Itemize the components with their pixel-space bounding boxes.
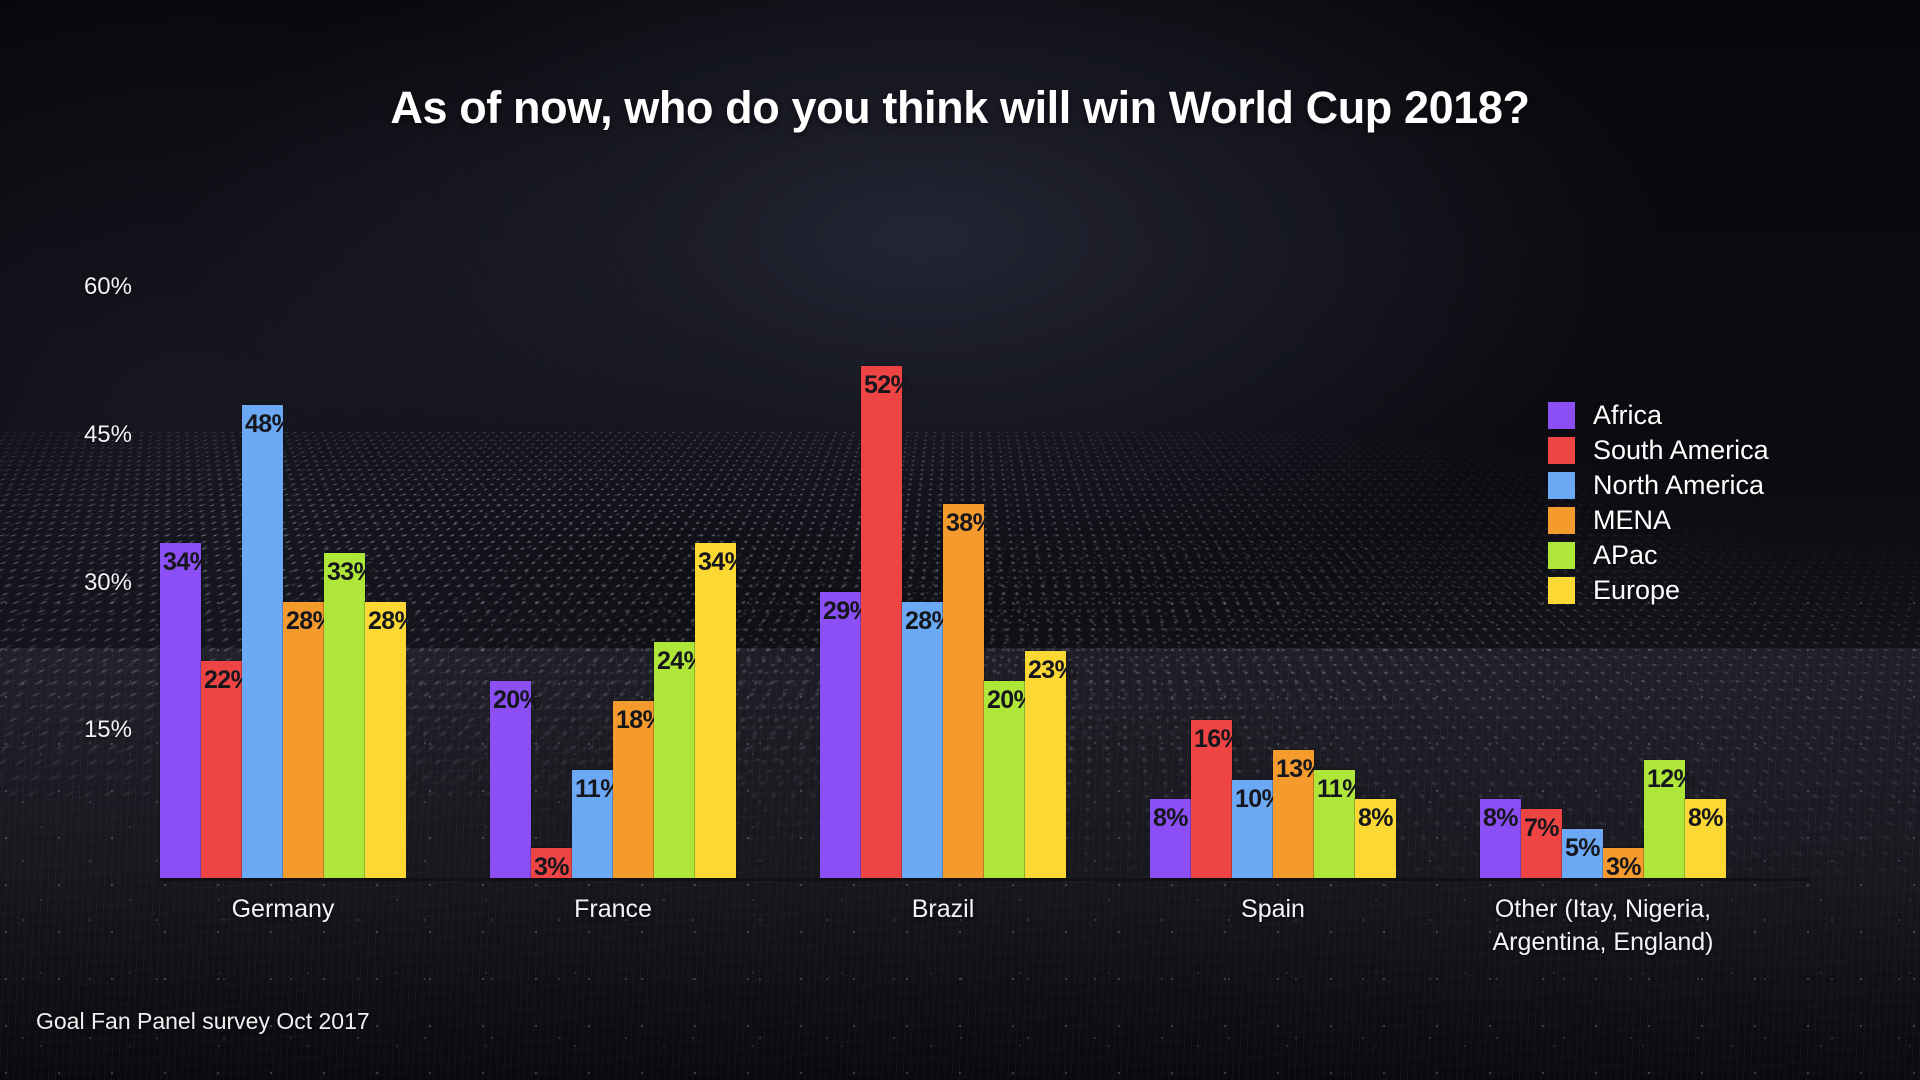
bar[interactable]: 8% xyxy=(1150,799,1191,878)
bar[interactable]: 12% xyxy=(1644,760,1685,878)
bar-value-label: 23% xyxy=(1028,656,1076,685)
bar-value-label: 16% xyxy=(1194,725,1242,754)
x-axis-category-label: Spain xyxy=(1241,893,1305,926)
bar[interactable]: 16% xyxy=(1191,720,1232,878)
bar[interactable]: 38% xyxy=(943,504,984,878)
bar-group: 20%3%11%18%24%34%France xyxy=(490,0,736,878)
bar-group: 8%16%10%13%11%8%Spain xyxy=(1150,0,1396,878)
bar-value-label: 7% xyxy=(1524,814,1559,843)
bar-value-label: 8% xyxy=(1688,804,1723,833)
legend-item-label: APac xyxy=(1593,540,1658,571)
source-note: Goal Fan Panel survey Oct 2017 xyxy=(36,1008,370,1035)
legend-color-swatch xyxy=(1548,577,1575,604)
x-axis-category-label: France xyxy=(574,893,652,926)
bar-value-label: 34% xyxy=(163,548,211,577)
bar[interactable]: 3% xyxy=(531,848,572,878)
legend-item-label: Africa xyxy=(1593,400,1662,431)
bar[interactable]: 13% xyxy=(1273,750,1314,878)
bar[interactable]: 8% xyxy=(1355,799,1396,878)
bar[interactable]: 20% xyxy=(984,681,1025,878)
bar[interactable]: 5% xyxy=(1562,829,1603,878)
bar-value-label: 20% xyxy=(493,686,541,715)
legend-color-swatch xyxy=(1548,472,1575,499)
legend-color-swatch xyxy=(1548,507,1575,534)
legend: AfricaSouth AmericaNorth AmericaMENAAPac… xyxy=(1548,398,1769,608)
bar[interactable]: 29% xyxy=(820,592,861,878)
y-axis-tick-label: 30% xyxy=(0,569,132,597)
legend-item-label: North America xyxy=(1593,470,1764,501)
bar[interactable]: 3% xyxy=(1603,848,1644,878)
legend-color-swatch xyxy=(1548,402,1575,429)
legend-item-label: South America xyxy=(1593,435,1769,466)
legend-item[interactable]: South America xyxy=(1548,433,1769,468)
legend-item[interactable]: Europe xyxy=(1548,573,1769,608)
bar-value-label: 38% xyxy=(946,509,994,538)
bar[interactable]: 8% xyxy=(1480,799,1521,878)
bar-group: 29%52%28%38%20%23%Brazil xyxy=(820,0,1066,878)
bar-group: 34%22%48%28%33%28%Germany xyxy=(160,0,406,878)
bar-value-label: 52% xyxy=(864,371,912,400)
bar-value-label: 8% xyxy=(1483,804,1518,833)
bar-group-bars: 8%16%10%13%11%8% xyxy=(1150,0,1396,878)
bar[interactable]: 28% xyxy=(902,602,943,878)
bar-value-label: 48% xyxy=(245,410,293,439)
bar-value-label: 8% xyxy=(1153,804,1188,833)
bar-value-label: 12% xyxy=(1647,765,1695,794)
bar-value-label: 3% xyxy=(534,853,569,882)
y-axis-tick-label: 15% xyxy=(0,716,132,744)
legend-item[interactable]: APac xyxy=(1548,538,1769,573)
legend-item[interactable]: MENA xyxy=(1548,503,1769,538)
legend-item[interactable]: North America xyxy=(1548,468,1769,503)
bar-value-label: 28% xyxy=(368,607,416,636)
bar-value-label: 34% xyxy=(698,548,746,577)
legend-item-label: Europe xyxy=(1593,575,1680,606)
bar[interactable]: 20% xyxy=(490,681,531,878)
x-axis-category-label: Germany xyxy=(232,893,335,926)
bar[interactable]: 48% xyxy=(242,405,283,878)
bar[interactable]: 34% xyxy=(160,543,201,878)
x-axis-category-label: Other (Itay, Nigeria,Argentina, England) xyxy=(1493,893,1714,959)
bar-value-label: 3% xyxy=(1606,853,1641,882)
bar[interactable]: 22% xyxy=(201,661,242,878)
bar[interactable]: 24% xyxy=(654,642,695,878)
bar[interactable]: 11% xyxy=(572,770,613,878)
bar[interactable]: 52% xyxy=(861,366,902,878)
bar-group-bars: 34%22%48%28%33%28% xyxy=(160,0,406,878)
y-axis-tick-label: 45% xyxy=(0,421,132,449)
bar[interactable]: 33% xyxy=(324,553,365,878)
x-axis-category-label: Brazil xyxy=(912,893,975,926)
bar[interactable]: 10% xyxy=(1232,780,1273,879)
bar[interactable]: 7% xyxy=(1521,809,1562,878)
bar[interactable]: 8% xyxy=(1685,799,1726,878)
bar[interactable]: 28% xyxy=(283,602,324,878)
bar-value-label: 33% xyxy=(327,558,375,587)
legend-item-label: MENA xyxy=(1593,505,1671,536)
x-axis-baseline xyxy=(160,878,1810,881)
bar[interactable]: 11% xyxy=(1314,770,1355,878)
bar-value-label: 8% xyxy=(1358,804,1393,833)
legend-item[interactable]: Africa xyxy=(1548,398,1769,433)
bar[interactable]: 28% xyxy=(365,602,406,878)
y-axis-tick-label: 60% xyxy=(0,273,132,301)
legend-color-swatch xyxy=(1548,542,1575,569)
bar-group-bars: 29%52%28%38%20%23% xyxy=(820,0,1066,878)
bar[interactable]: 23% xyxy=(1025,651,1066,878)
bar-group-bars: 20%3%11%18%24%34% xyxy=(490,0,736,878)
bar-value-label: 5% xyxy=(1565,834,1600,863)
legend-color-swatch xyxy=(1548,437,1575,464)
bar[interactable]: 18% xyxy=(613,701,654,878)
bar[interactable]: 34% xyxy=(695,543,736,878)
